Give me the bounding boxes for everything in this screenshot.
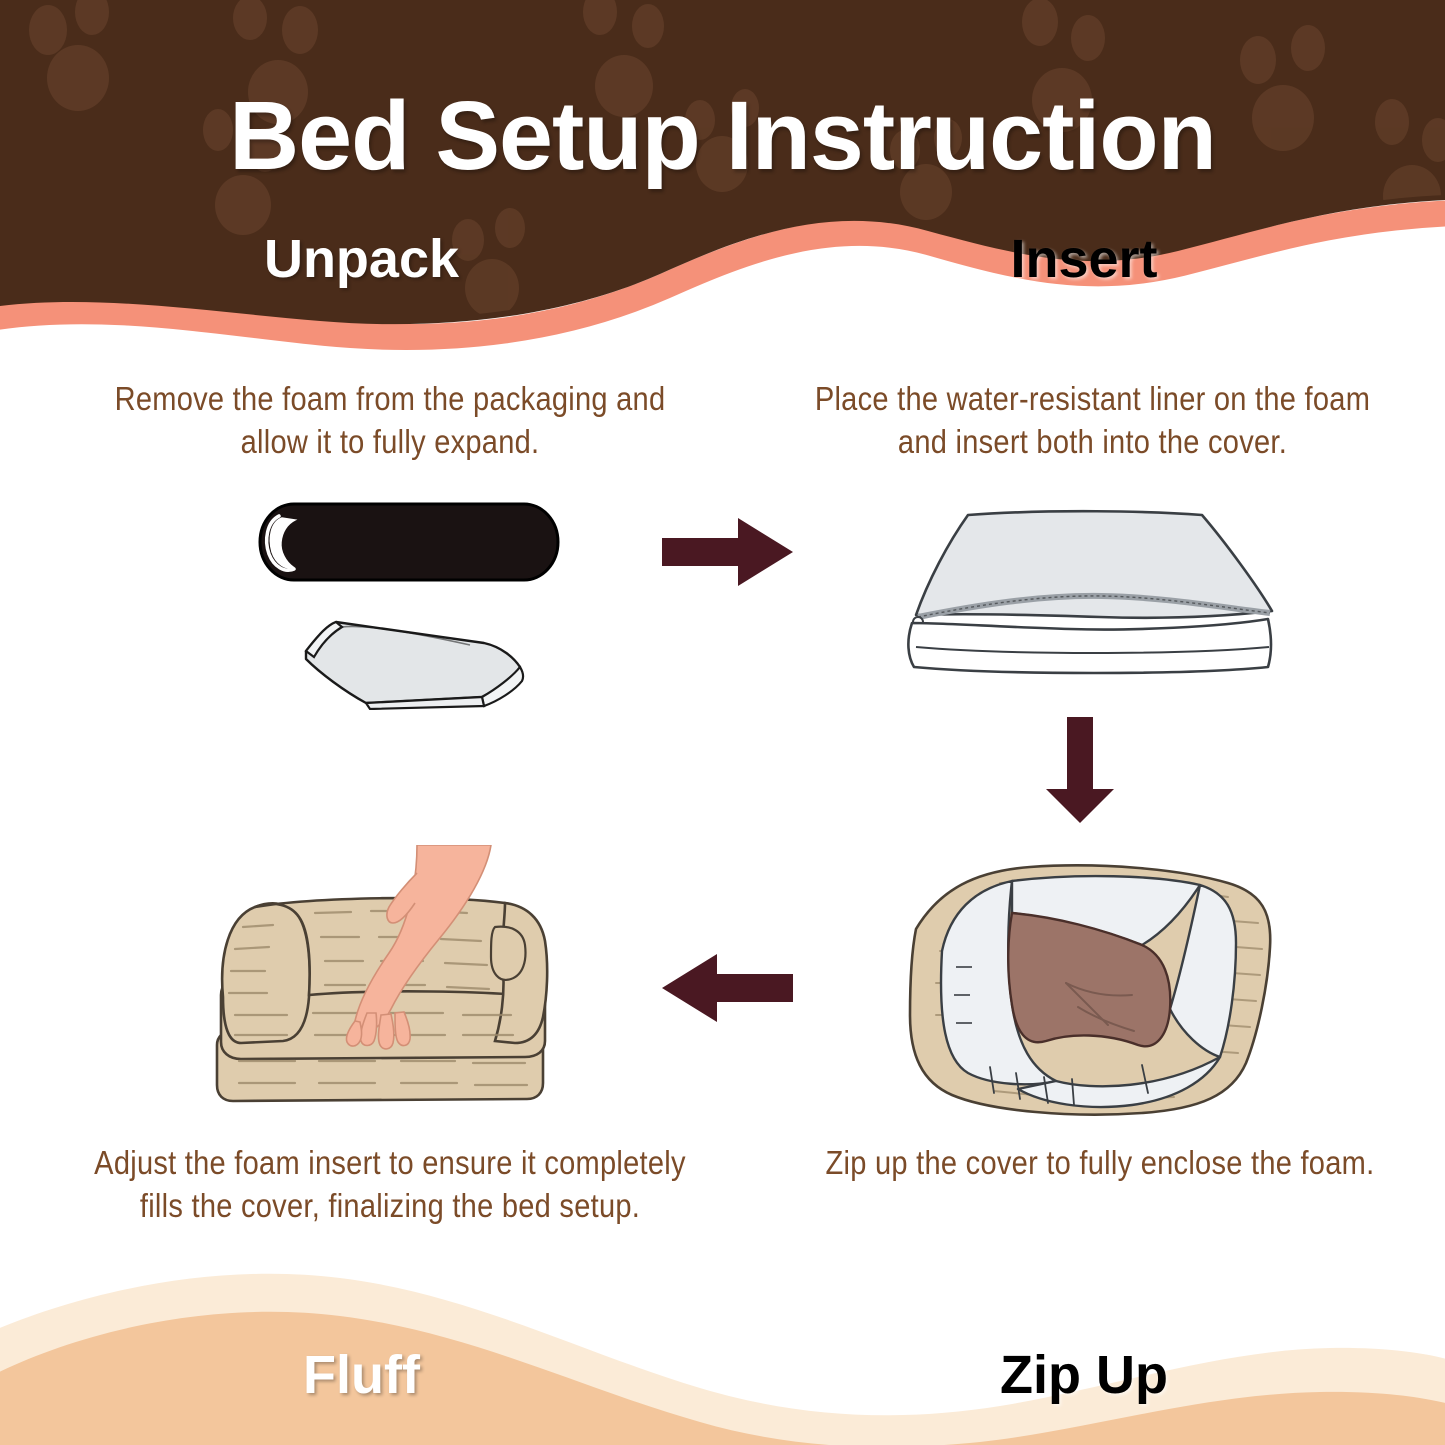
step-badge-insert: Insert bbox=[723, 232, 1445, 286]
zippered-cover-illustration bbox=[890, 495, 1290, 680]
step-badge-unpack: Unpack bbox=[0, 232, 723, 286]
caption-fluff: Adjust the foam insert to ensure it comp… bbox=[91, 1142, 689, 1228]
arrow-down-icon bbox=[1040, 715, 1120, 825]
step-badge-zipup: Zip Up bbox=[723, 1348, 1445, 1402]
caption-insert: Place the water-resistant liner on the f… bbox=[796, 378, 1390, 464]
hand-fluffing-illustration bbox=[195, 845, 615, 1125]
folded-liner-illustration bbox=[270, 615, 540, 710]
step-badge-fluff: Fluff bbox=[0, 1348, 723, 1402]
arrow-left-icon bbox=[660, 948, 795, 1028]
page-title: Bed Setup Instruction bbox=[0, 83, 1445, 190]
caption-zipup: Zip up the cover to fully enclose the fo… bbox=[818, 1142, 1381, 1185]
arrow-right-icon bbox=[660, 512, 795, 592]
cover-with-foam-illustration bbox=[880, 855, 1300, 1125]
caption-unpack: Remove the foam from the packaging and a… bbox=[86, 378, 693, 464]
rolled-foam-illustration bbox=[255, 500, 565, 585]
infographic-page: Bed Setup Instruction Unpack Insert Remo… bbox=[0, 0, 1445, 1445]
